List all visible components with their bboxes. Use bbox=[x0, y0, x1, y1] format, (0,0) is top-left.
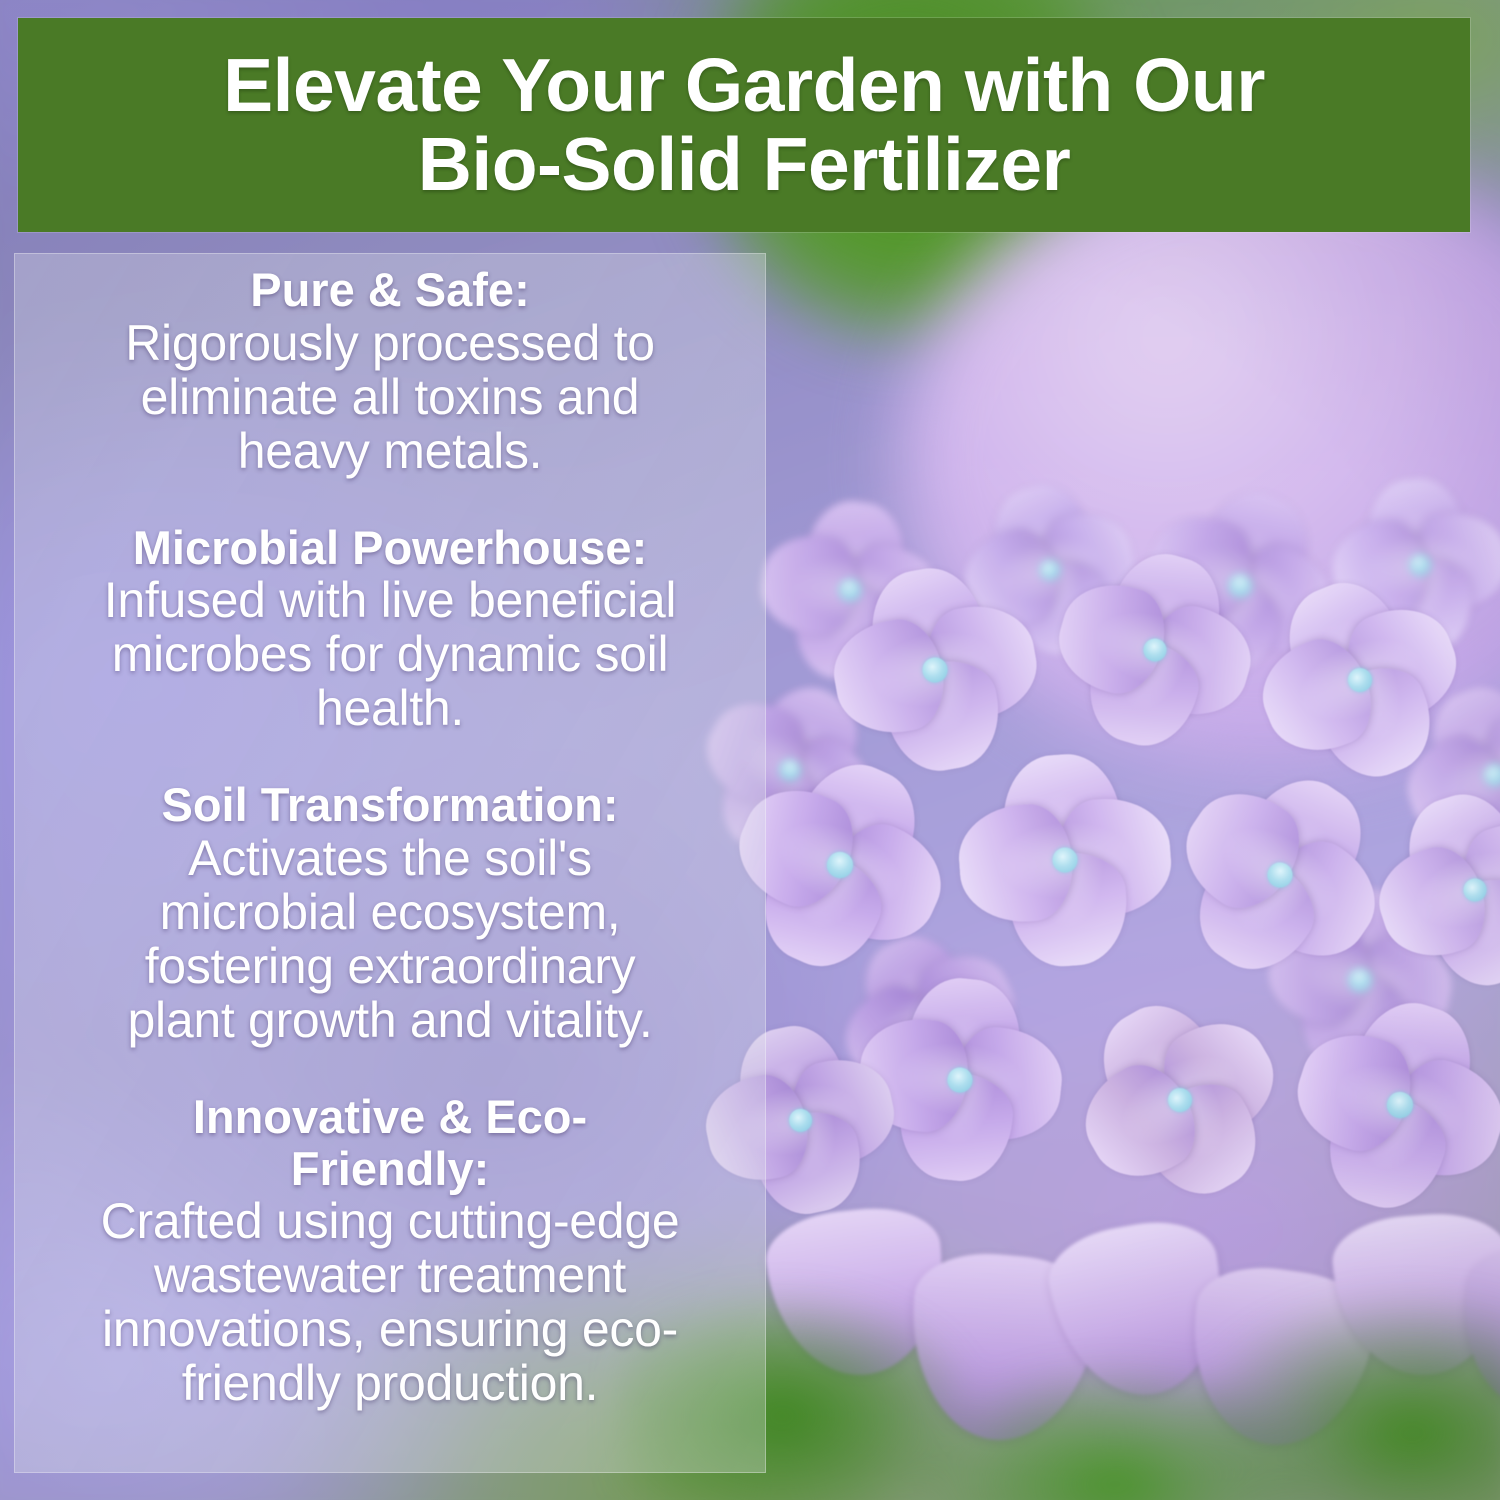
features-panel: Pure & Safe: Rigorously processed to eli… bbox=[14, 253, 766, 1473]
feature-heading: Microbial Powerhouse: bbox=[39, 522, 741, 574]
promotional-poster: Elevate Your Garden with Our Bio-Solid F… bbox=[0, 0, 1500, 1500]
feature-body: Crafted using cutting-edge wastewater tr… bbox=[39, 1194, 741, 1410]
feature-item-pure-and-safe: Pure & Safe: Rigorously processed to eli… bbox=[39, 264, 741, 478]
feature-heading: Pure & Safe: bbox=[39, 264, 741, 316]
feature-body: Infused with live beneficial microbes fo… bbox=[39, 573, 741, 735]
feature-body: Rigorously processed to eliminate all to… bbox=[39, 316, 741, 478]
hydrangea-floret bbox=[945, 740, 1185, 980]
feature-item-innovative-and-eco-friendly: Innovative & Eco- Friendly: Crafted usin… bbox=[39, 1091, 741, 1410]
title-banner: Elevate Your Garden with Our Bio-Solid F… bbox=[18, 18, 1470, 232]
feature-heading: Innovative & Eco- Friendly: bbox=[39, 1091, 741, 1194]
feature-heading: Soil Transformation: bbox=[39, 779, 741, 831]
feature-item-soil-transformation: Soil Transformation: Activates the soil'… bbox=[39, 779, 741, 1047]
feature-body: Activates the soil's microbial ecosystem… bbox=[39, 831, 741, 1047]
feature-item-microbial-powerhouse: Microbial Powerhouse: Infused with live … bbox=[39, 522, 741, 736]
poster-title: Elevate Your Garden with Our Bio-Solid F… bbox=[189, 46, 1299, 205]
